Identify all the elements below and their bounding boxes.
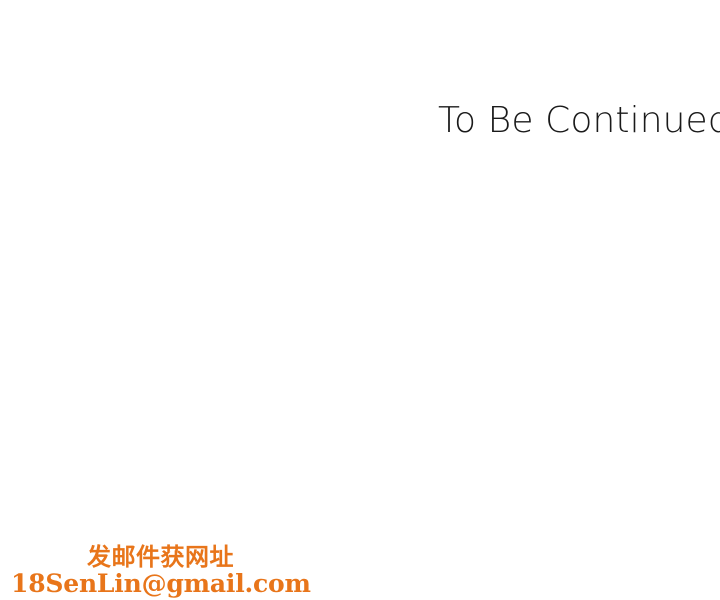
watermark: 发邮件获网址 18SenLin@gmail.com: [0, 538, 260, 600]
watermark-email-address: 18SenLin@gmail.com: [11, 569, 311, 598]
page-title: To Be Continued: [438, 99, 720, 143]
page-canvas: To Be Continued 发邮件获网址 18SenLin@gmail.co…: [0, 0, 720, 600]
watermark-chinese-text: 发邮件获网址: [87, 543, 234, 571]
